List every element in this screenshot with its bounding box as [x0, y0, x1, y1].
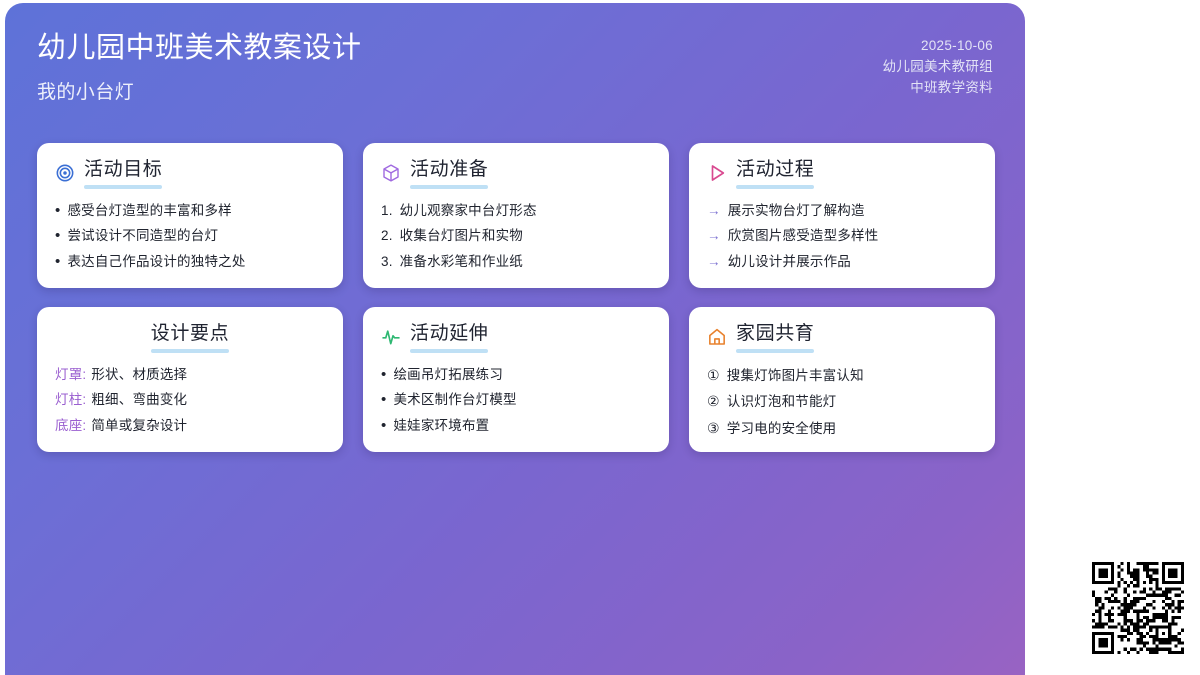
- card-body: •感受台灯造型的丰富和多样•尝试设计不同造型的台灯•表达自己作品设计的独特之处: [55, 201, 325, 272]
- item-text: 学习电的安全使用: [727, 419, 977, 439]
- item-text: 绘画吊灯拓展练习: [393, 365, 651, 385]
- item-marker: 1.: [381, 201, 393, 221]
- slide-canvas: 幼儿园中班美术教案设计 我的小台灯 2025-10-06 幼儿园美术教研组 中班…: [0, 0, 1200, 675]
- card-body: ①搜集灯饰图片丰富认知②认识灯泡和节能灯③学习电的安全使用: [707, 365, 977, 439]
- header-meta: 2025-10-06 幼儿园美术教研组 中班教学资料: [883, 36, 993, 99]
- list-item: →欣赏图片感受造型多样性: [707, 226, 977, 246]
- item-text: 准备水彩笔和作业纸: [400, 252, 651, 272]
- card-header: 活动目标: [55, 158, 325, 189]
- title-underline: [410, 349, 488, 353]
- list-item: →展示实物台灯了解构造: [707, 201, 977, 221]
- card-title-wrap: 设计要点: [151, 322, 229, 353]
- item-marker: •: [381, 392, 386, 407]
- item-marker: ②: [707, 391, 720, 411]
- play-icon: [707, 163, 727, 183]
- item-text: 娃娃家环境布置: [393, 416, 651, 436]
- item-value: 简单或复杂设计: [91, 416, 187, 436]
- list-item: •尝试设计不同造型的台灯: [55, 226, 325, 246]
- card-title: 家园共育: [736, 322, 814, 346]
- item-key: 灯罩:: [55, 365, 86, 385]
- list-item: 灯罩:形状、材质选择: [55, 365, 325, 385]
- list-item: 2.收集台灯图片和实物: [381, 226, 651, 246]
- item-marker: →: [707, 252, 721, 272]
- title-underline: [736, 349, 814, 353]
- item-marker: •: [55, 254, 60, 269]
- title-underline: [84, 185, 162, 189]
- item-value: 粗细、弯曲变化: [91, 390, 187, 410]
- qr-code[interactable]: [1092, 562, 1184, 654]
- item-marker: •: [55, 228, 60, 243]
- card-title: 设计要点: [151, 322, 229, 346]
- card-title: 活动目标: [84, 158, 162, 182]
- card-header: 活动准备: [381, 158, 651, 189]
- title-underline: [410, 185, 488, 189]
- item-text: 美术区制作台灯模型: [393, 390, 651, 410]
- card-title-wrap: 活动延伸: [410, 322, 488, 353]
- pulse-icon: [381, 327, 401, 347]
- title-underline: [151, 349, 229, 353]
- list-item: ①搜集灯饰图片丰富认知: [707, 365, 977, 386]
- card-title: 活动延伸: [410, 322, 488, 346]
- list-item: ②认识灯泡和节能灯: [707, 391, 977, 412]
- card-title: 活动准备: [410, 158, 488, 182]
- page-subtitle: 我的小台灯: [37, 77, 362, 104]
- meta-date: 2025-10-06: [883, 36, 993, 57]
- card-title-wrap: 活动目标: [84, 158, 162, 189]
- list-item: ③学习电的安全使用: [707, 418, 977, 439]
- card-grid: 活动目标•感受台灯造型的丰富和多样•尝试设计不同造型的台灯•表达自己作品设计的独…: [37, 143, 999, 452]
- item-marker: 2.: [381, 226, 393, 246]
- item-marker: →: [707, 226, 721, 246]
- card-title: 活动过程: [736, 158, 814, 182]
- item-marker: →: [707, 201, 721, 221]
- list-item: •表达自己作品设计的独特之处: [55, 252, 325, 272]
- card-activity-goals: 活动目标•感受台灯造型的丰富和多样•尝试设计不同造型的台灯•表达自己作品设计的独…: [37, 143, 343, 288]
- card-title-wrap: 家园共育: [736, 322, 814, 353]
- item-value: 形状、材质选择: [91, 365, 187, 385]
- item-marker: •: [381, 367, 386, 382]
- meta-organization: 幼儿园美术教研组: [883, 57, 993, 78]
- card-header: 家园共育: [707, 322, 977, 353]
- item-text: 表达自己作品设计的独特之处: [67, 252, 325, 272]
- meta-category: 中班教学资料: [883, 78, 993, 99]
- card-header: 活动过程: [707, 158, 977, 189]
- list-item: •美术区制作台灯模型: [381, 390, 651, 410]
- list-item: 底座:简单或复杂设计: [55, 416, 325, 436]
- card-body: 灯罩:形状、材质选择灯柱:粗细、弯曲变化底座:简单或复杂设计: [55, 365, 325, 436]
- item-text: 收集台灯图片和实物: [400, 226, 651, 246]
- title-underline: [736, 185, 814, 189]
- list-item: •绘画吊灯拓展练习: [381, 365, 651, 385]
- card-title-wrap: 活动准备: [410, 158, 488, 189]
- list-item: →幼儿设计并展示作品: [707, 252, 977, 272]
- item-text: 欣赏图片感受造型多样性: [728, 226, 977, 246]
- item-marker: 3.: [381, 252, 393, 272]
- card-body: •绘画吊灯拓展练习•美术区制作台灯模型•娃娃家环境布置: [381, 365, 651, 436]
- card-header: 设计要点: [55, 322, 325, 353]
- item-key: 底座:: [55, 416, 86, 436]
- card-activity-process: 活动过程→展示实物台灯了解构造→欣赏图片感受造型多样性→幼儿设计并展示作品: [689, 143, 995, 288]
- item-marker: ①: [707, 365, 720, 385]
- slide-header: 幼儿园中班美术教案设计 我的小台灯 2025-10-06 幼儿园美术教研组 中班…: [5, 3, 1025, 121]
- list-item: 3.准备水彩笔和作业纸: [381, 252, 651, 272]
- item-marker: ③: [707, 418, 720, 438]
- item-text: 认识灯泡和节能灯: [727, 392, 977, 412]
- card-activity-preparation: 活动准备1.幼儿观察家中台灯形态2.收集台灯图片和实物3.准备水彩笔和作业纸: [363, 143, 669, 288]
- item-text: 展示实物台灯了解构造: [728, 201, 977, 221]
- list-item: •感受台灯造型的丰富和多样: [55, 201, 325, 221]
- card-home-school-coeducation: 家园共育①搜集灯饰图片丰富认知②认识灯泡和节能灯③学习电的安全使用: [689, 307, 995, 452]
- slide-panel: 幼儿园中班美术教案设计 我的小台灯 2025-10-06 幼儿园美术教研组 中班…: [5, 3, 1025, 675]
- item-text: 搜集灯饰图片丰富认知: [727, 366, 977, 386]
- card-body: 1.幼儿观察家中台灯形态2.收集台灯图片和实物3.准备水彩笔和作业纸: [381, 201, 651, 272]
- home-icon: [707, 327, 727, 347]
- list-item: 1.幼儿观察家中台灯形态: [381, 201, 651, 221]
- item-key: 灯柱:: [55, 390, 86, 410]
- cube-icon: [381, 163, 401, 183]
- card-title-wrap: 活动过程: [736, 158, 814, 189]
- item-text: 幼儿观察家中台灯形态: [400, 201, 651, 221]
- card-activity-extension: 活动延伸•绘画吊灯拓展练习•美术区制作台灯模型•娃娃家环境布置: [363, 307, 669, 452]
- header-titles: 幼儿园中班美术教案设计 我的小台灯: [37, 31, 362, 104]
- item-text: 幼儿设计并展示作品: [728, 252, 977, 272]
- card-design-points: 设计要点灯罩:形状、材质选择灯柱:粗细、弯曲变化底座:简单或复杂设计: [37, 307, 343, 452]
- card-header: 活动延伸: [381, 322, 651, 353]
- list-item: 灯柱:粗细、弯曲变化: [55, 390, 325, 410]
- page-title: 幼儿园中班美术教案设计: [37, 31, 362, 66]
- item-marker: •: [381, 418, 386, 433]
- card-body: →展示实物台灯了解构造→欣赏图片感受造型多样性→幼儿设计并展示作品: [707, 201, 977, 272]
- item-marker: •: [55, 203, 60, 218]
- target-icon: [55, 163, 75, 183]
- item-text: 尝试设计不同造型的台灯: [67, 226, 325, 246]
- list-item: •娃娃家环境布置: [381, 416, 651, 436]
- item-text: 感受台灯造型的丰富和多样: [67, 201, 325, 221]
